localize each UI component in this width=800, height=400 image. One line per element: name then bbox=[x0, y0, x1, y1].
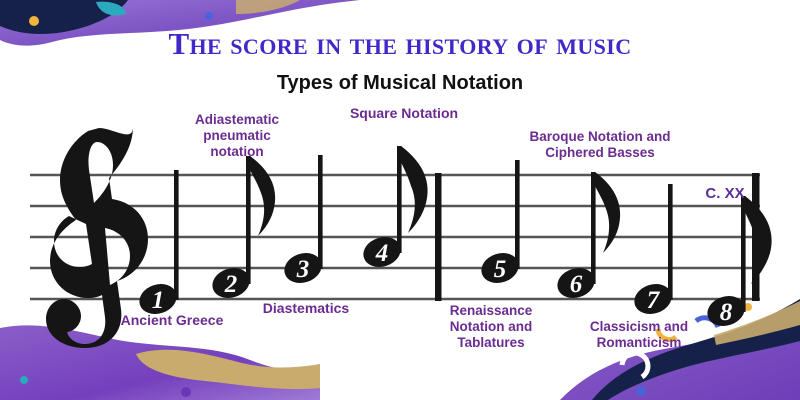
note-stem bbox=[318, 155, 323, 269]
note-flag bbox=[401, 146, 428, 233]
note-group-4 bbox=[359, 146, 427, 272]
note-stem bbox=[246, 156, 251, 284]
note-number-4: 4 bbox=[375, 240, 389, 267]
note-stem bbox=[397, 146, 402, 253]
label-ancient-greece: Ancient Greece bbox=[110, 312, 234, 329]
note-number-7: 7 bbox=[647, 287, 661, 314]
note-group-8 bbox=[703, 196, 771, 331]
note-flag bbox=[250, 156, 275, 236]
note-number-5: 5 bbox=[494, 256, 507, 283]
label-c-xx: C. XX bbox=[696, 185, 754, 203]
label-baroque-notation-and-ciphered-basses: Baroque Notation and Ciphered Basses bbox=[515, 129, 685, 161]
slide-canvas: The score in the history of music Types … bbox=[0, 0, 800, 400]
note-number-1: 1 bbox=[152, 287, 165, 314]
label-adiastematic-pneumatic-notation: Adiastematic pneumatic notation bbox=[186, 112, 288, 160]
label-diastematics: Diastematics bbox=[248, 300, 364, 317]
note-stem bbox=[591, 172, 596, 284]
label-renaissance-notation-and-tablatures: Renaissance Notation and Tablatures bbox=[437, 303, 545, 351]
note-number-3: 3 bbox=[296, 256, 310, 283]
note-flag bbox=[595, 172, 620, 253]
label-square-notation: Square Notation bbox=[330, 105, 478, 122]
note-stem bbox=[741, 196, 746, 312]
label-classicism-and-romanticism: Classicism and Romanticism bbox=[580, 319, 698, 351]
note-number-2: 2 bbox=[224, 271, 238, 298]
note-stem bbox=[668, 184, 673, 300]
note-stem bbox=[515, 160, 520, 269]
note-number-6: 6 bbox=[570, 271, 583, 298]
note-flag bbox=[745, 196, 772, 284]
note-stem bbox=[174, 170, 179, 300]
note-group-2 bbox=[208, 156, 275, 303]
note-number-8: 8 bbox=[720, 299, 733, 326]
